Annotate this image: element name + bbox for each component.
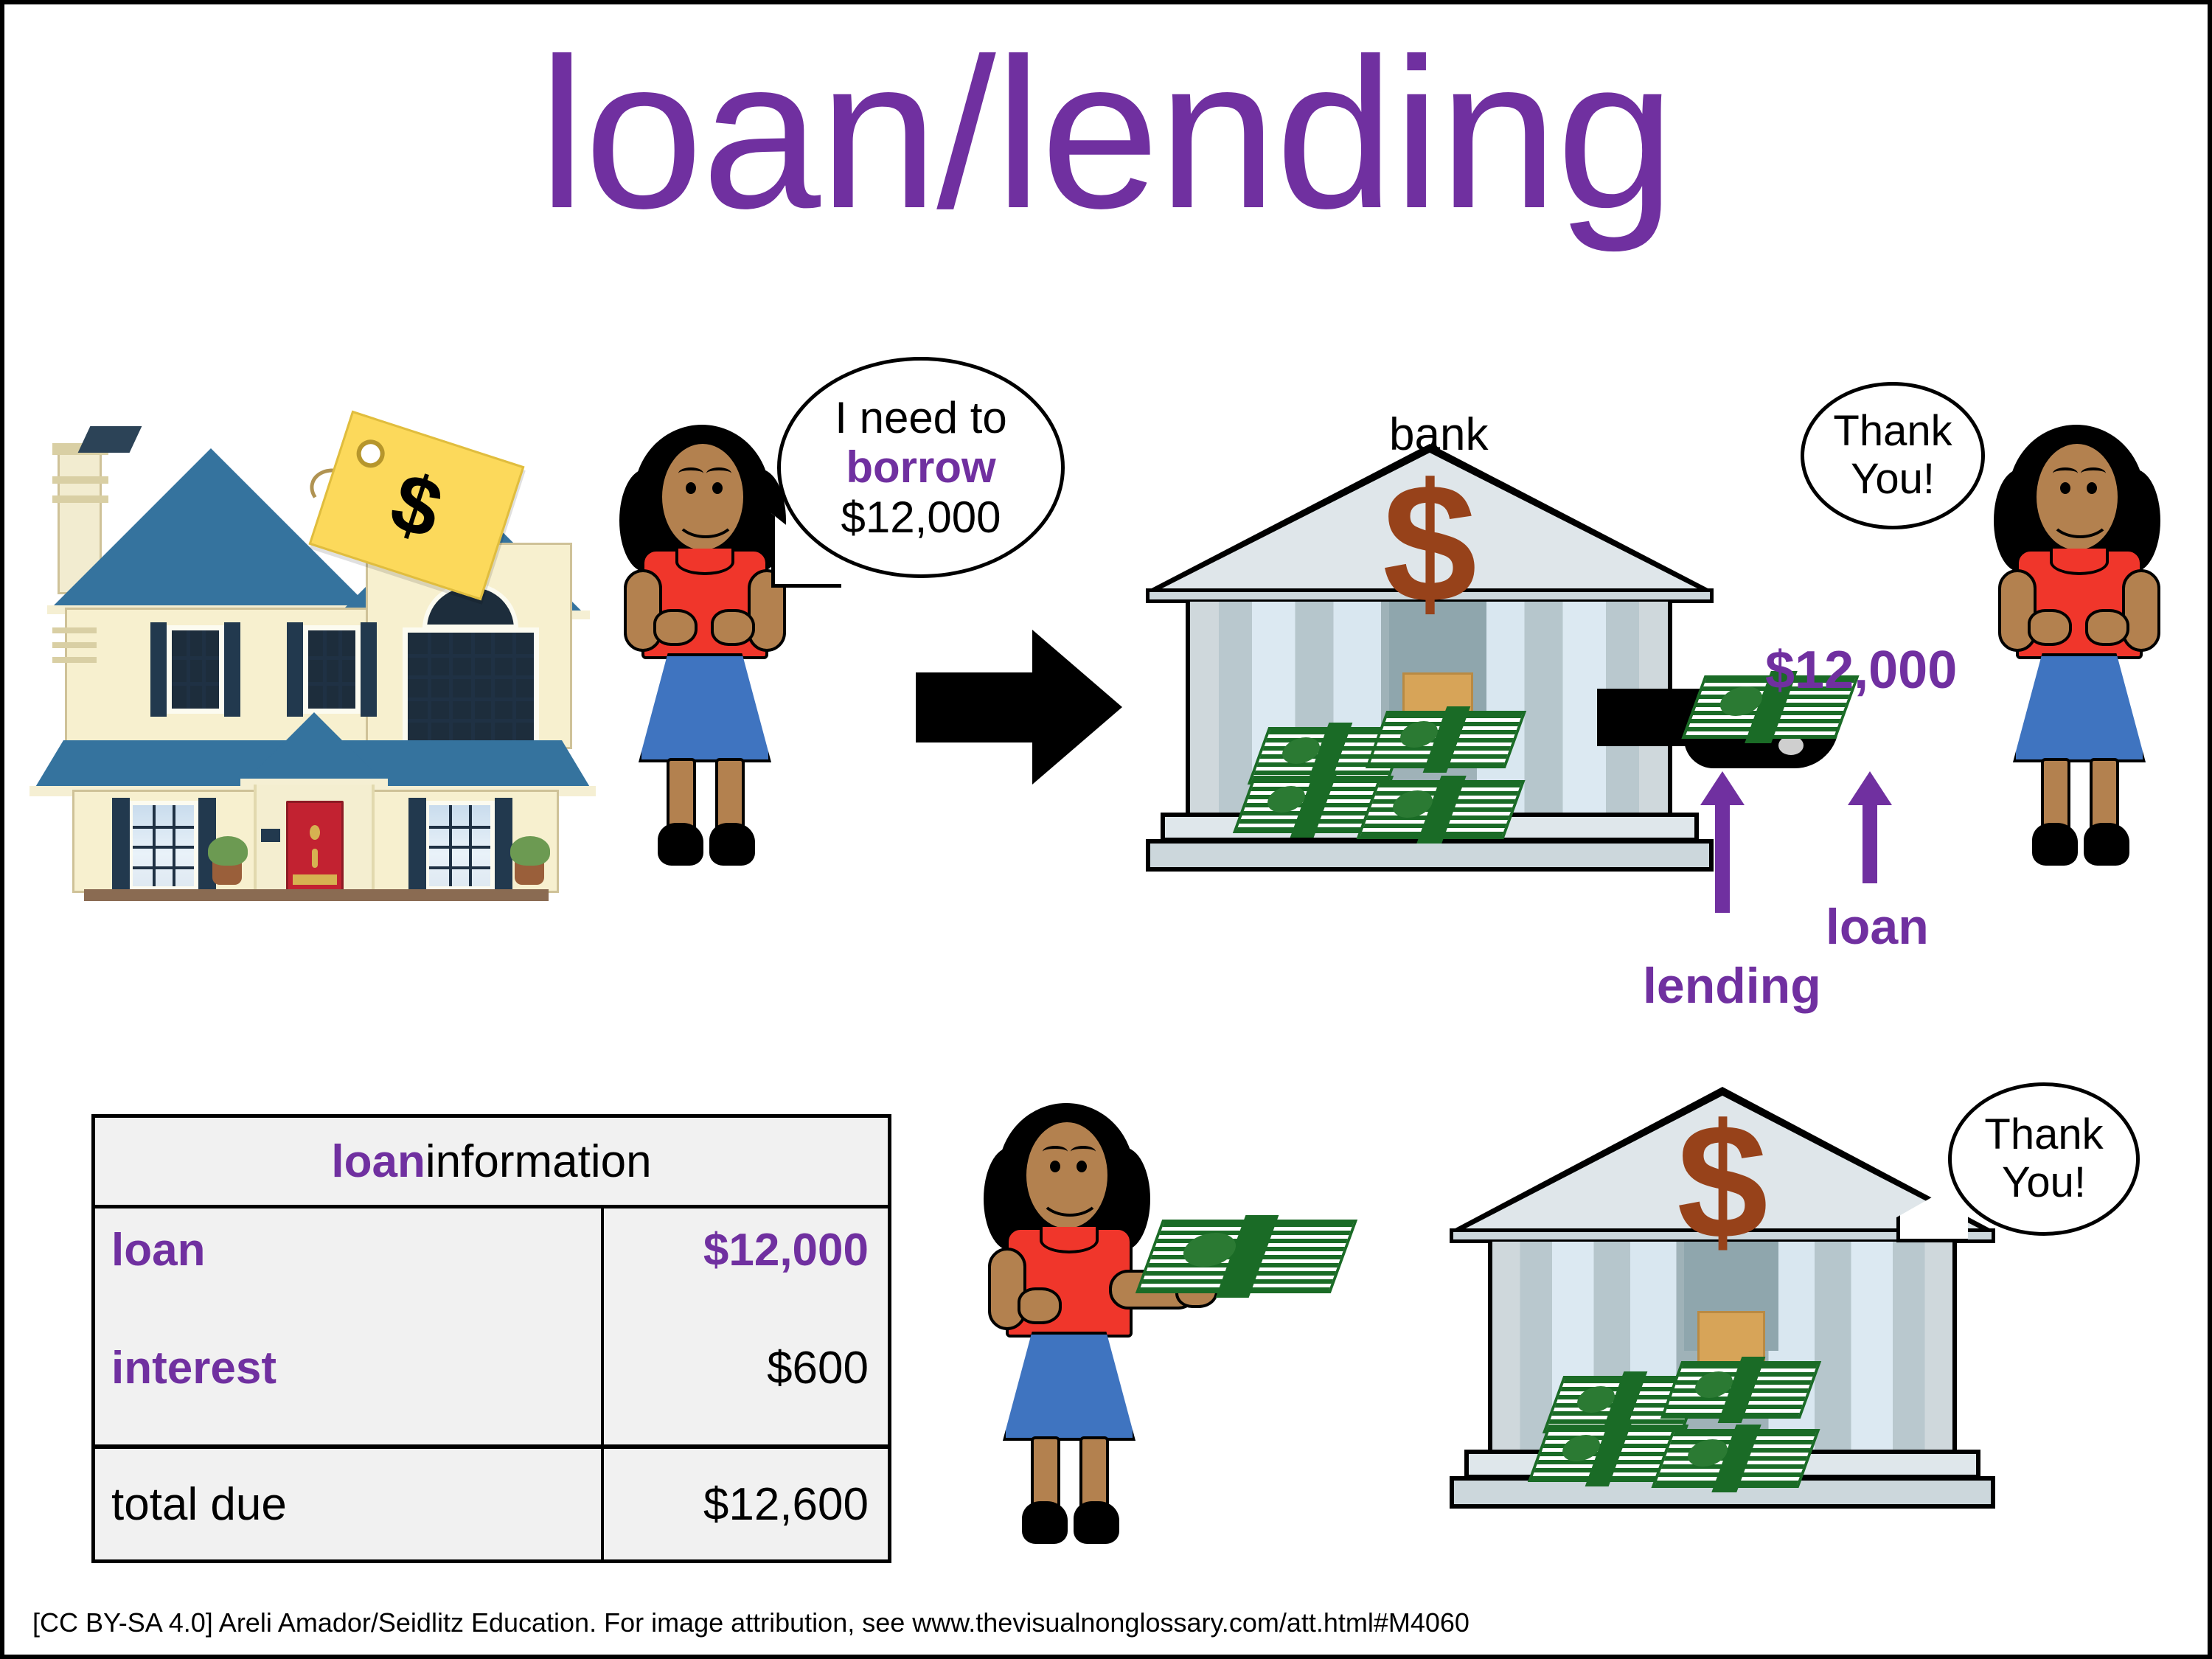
price-tag-dollar-icon: $: [380, 453, 453, 558]
loan-information-table: loan information loan $12,000 interest $…: [91, 1114, 891, 1563]
eye-right: [1077, 1161, 1087, 1172]
hand-left: [1018, 1287, 1062, 1324]
skirt: [1003, 1332, 1135, 1441]
speech-bubble-thanks-bottom: Thank You!: [1948, 1082, 2140, 1236]
door-window: [310, 825, 320, 840]
eave-trim-2: [52, 642, 97, 648]
flow-arrow-right: [916, 630, 1122, 785]
smile: [674, 493, 737, 538]
eye-left: [1050, 1161, 1060, 1172]
house-illustration: $: [19, 417, 631, 904]
borrower-person-top-right: [1995, 425, 2172, 897]
shoe-left: [1022, 1501, 1068, 1544]
bubble-line-2: You!: [2002, 1159, 2086, 1207]
money-bundle: [1149, 1220, 1344, 1293]
table-cell-label: loan: [95, 1208, 604, 1291]
mailbox: [261, 829, 280, 842]
eyebrow-left: [1043, 1146, 1068, 1158]
money-pile-bank-bottom: [1538, 1354, 1855, 1501]
shoe-right: [1074, 1501, 1119, 1544]
eyebrow-left: [678, 467, 703, 479]
shutter-ul-left: [150, 622, 167, 717]
shoe-left: [658, 823, 703, 866]
table-cell-label: total due: [95, 1449, 604, 1559]
page-title: loan/lending: [4, 27, 2208, 240]
eye-left: [686, 482, 696, 494]
shutter-ur-left: [287, 622, 303, 717]
eave-trim-1: [52, 627, 97, 633]
gable-picture-window: [403, 627, 539, 745]
door-kickplate: [293, 874, 337, 885]
eyebrow-right: [1071, 1146, 1096, 1158]
lower-window-left: [128, 801, 198, 891]
bubble-line-1: Thank: [1984, 1111, 2103, 1159]
shoe-right: [2084, 823, 2129, 866]
money-amount-label: $12,000: [1765, 640, 1957, 700]
upper-window-left: [167, 625, 224, 714]
table-header-rest: information: [425, 1135, 652, 1188]
upper-window-right: [303, 625, 361, 714]
eyebrow-right: [706, 467, 731, 479]
table-row: interest $600: [95, 1326, 888, 1409]
speech-bubble-thanks-top: Thank You!: [1801, 382, 1985, 529]
money-bundle: [1662, 1429, 1809, 1488]
table-row-spacer: [95, 1291, 888, 1326]
table-row-spacer: [95, 1409, 888, 1444]
eye-right: [712, 482, 723, 494]
speech-bubble-borrow: I need to borrow $12,000: [777, 357, 1065, 578]
eye-right: [2087, 482, 2097, 494]
eyebrow-right: [2081, 467, 2106, 479]
shutter-lr-right: [495, 798, 512, 894]
attribution-footer: [CC BY-SA 4.0] Areli Amador/Seidlitz Edu…: [32, 1607, 1470, 1638]
plant-right: [510, 836, 550, 866]
loan-up-arrow: [1848, 771, 1892, 882]
bubble-line-3-amount: $12,000: [841, 493, 1001, 542]
porch-floor: [84, 889, 549, 901]
shoe-right: [709, 823, 755, 866]
collar: [675, 549, 734, 575]
table-header-highlight: loan: [331, 1135, 425, 1188]
eyebrow-left: [2053, 467, 2078, 479]
eye-left: [2060, 482, 2070, 494]
bubble-line-2-borrow: borrow: [846, 442, 995, 492]
bubble-line-1: I need to: [835, 393, 1007, 442]
front-door: [286, 801, 344, 893]
skirt: [639, 653, 771, 762]
bubble-line-2: You!: [1851, 456, 1935, 504]
money-being-repaid: [1149, 1220, 1355, 1323]
table-cell-label: interest: [95, 1326, 604, 1409]
plant-left: [208, 836, 248, 866]
bank-label: bank: [1389, 408, 1488, 461]
collar: [1040, 1227, 1099, 1253]
table-row: total due $12,600: [95, 1449, 888, 1559]
bubble-line-1: Thank: [1833, 408, 1952, 456]
money-bundle: [1376, 711, 1516, 768]
shutter-ur-right: [361, 622, 377, 717]
smile: [1038, 1171, 1102, 1217]
hand-left: [2028, 609, 2072, 646]
bank-dollar-icon: $: [1146, 459, 1714, 628]
table-body-block: loan $12,000 interest $600: [95, 1208, 888, 1449]
hand-right: [711, 609, 755, 646]
table-row: loan $12,000: [95, 1208, 888, 1291]
smile: [2048, 493, 2112, 538]
money-bundle: [1671, 1361, 1811, 1419]
repaying-person-bottom: [985, 1103, 1162, 1575]
money-bundle: [1367, 780, 1514, 839]
shutter-ll-left: [112, 798, 130, 894]
skirt: [2013, 653, 2146, 762]
loan-label: loan: [1826, 898, 1929, 956]
shoe-left: [2032, 823, 2078, 866]
table-cell-value: $12,000: [604, 1208, 888, 1291]
money-pile-bank-top: [1243, 698, 1560, 845]
shutter-lr-left: [408, 798, 426, 894]
porch-gable-roof: [240, 712, 388, 786]
lower-window-right: [425, 801, 495, 891]
table-cell-value: $12,600: [604, 1449, 888, 1559]
lending-label: lending: [1643, 957, 1821, 1015]
table-cell-value: $600: [604, 1326, 888, 1409]
collar: [2050, 549, 2109, 575]
eave-trim-3: [52, 657, 97, 663]
price-tag-hole: [353, 436, 389, 471]
lending-up-arrow: [1700, 771, 1745, 911]
hand-left: [653, 609, 698, 646]
hand-right: [2085, 609, 2129, 646]
table-header: loan information: [95, 1118, 888, 1208]
borrower-person-top: [621, 425, 798, 897]
poster-canvas: loan/lending: [0, 0, 2212, 1659]
door-handle: [312, 849, 318, 868]
shutter-ul-right: [224, 622, 240, 717]
arm-right: [2122, 569, 2160, 652]
